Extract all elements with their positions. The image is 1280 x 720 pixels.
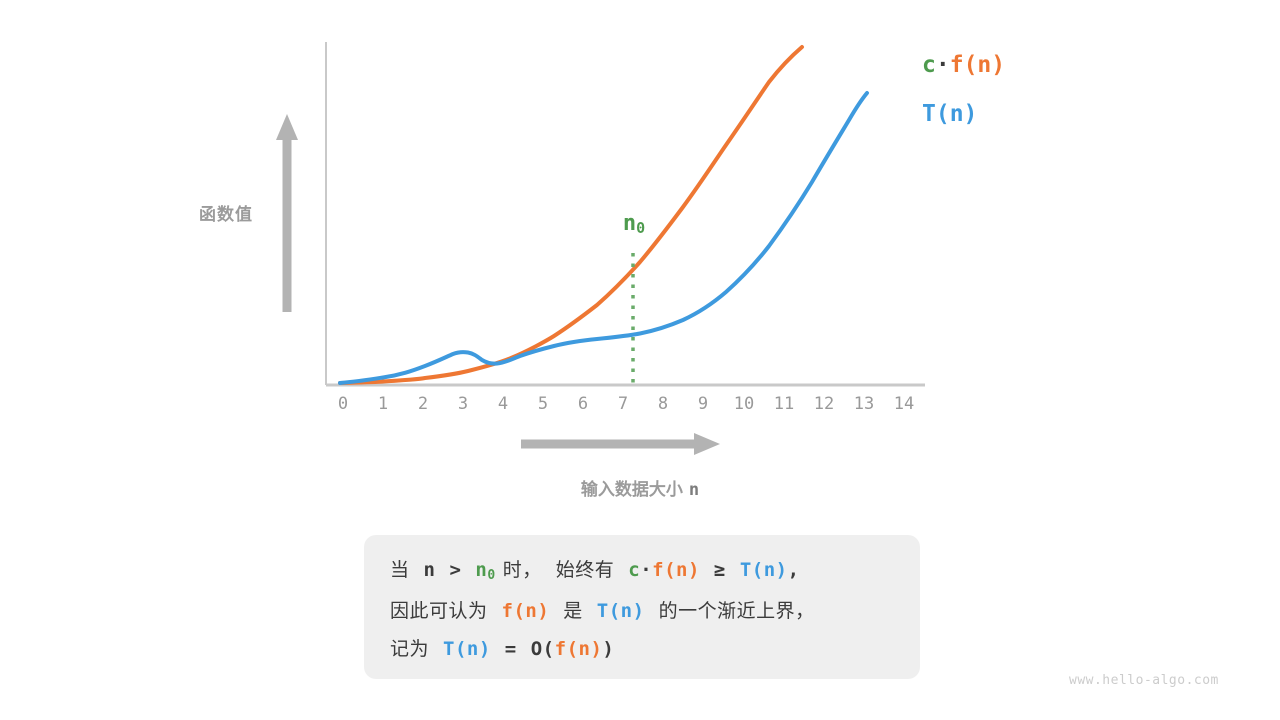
legend-multiply-dot: · xyxy=(936,52,950,78)
tick-label-4: 4 xyxy=(498,394,508,414)
tick-label-9: 9 xyxy=(698,394,708,414)
n0-base: n xyxy=(623,211,636,236)
watermark: www.hello-algo.com xyxy=(1069,673,1219,688)
expl1-dot: · xyxy=(640,559,652,581)
x-axis-tick-labels: 0 1 2 3 4 5 6 7 8 9 10 11 12 13 14 xyxy=(0,394,1280,420)
tick-label-0: 0 xyxy=(338,394,348,414)
tick-label-11: 11 xyxy=(774,394,794,414)
expl2-tn: T(n) xyxy=(597,600,645,622)
legend-item-t-n: T(n) xyxy=(922,101,977,127)
legend-coefficient-c: c xyxy=(922,52,936,78)
expl1-n0-sub: 0 xyxy=(487,568,495,583)
expl1-n: n xyxy=(424,559,436,581)
legend-function-f-n: f(n) xyxy=(950,52,1005,78)
expl2-fn: f(n) xyxy=(502,600,550,622)
expl2-upper-bound: 的一个渐近上界， xyxy=(659,600,815,622)
explanation-box: 当n>n0时，始终有c·f(n)≥T(n), 因此可认为f(n)是T(n)的一个… xyxy=(364,535,920,679)
expl3-fn: f(n) xyxy=(555,638,603,660)
legend-function-t-n: T(n) xyxy=(922,101,977,127)
expl3-big-o-open: O( xyxy=(531,638,555,660)
tick-label-5: 5 xyxy=(538,394,548,414)
expl3-big-o-close: ) xyxy=(602,638,614,660)
expl1-n0: n0 xyxy=(475,559,495,581)
tick-label-3: 3 xyxy=(458,394,468,414)
expl1-when: 当 xyxy=(390,559,410,581)
tick-label-2: 2 xyxy=(418,394,428,414)
x-axis-label-text: 输入数据大小 xyxy=(581,480,683,500)
legend-item-c-f-n: c·f(n) xyxy=(922,52,1005,78)
expl1-geq: ≥ xyxy=(714,559,726,581)
expl1-fn: f(n) xyxy=(652,559,700,581)
expl1-always-have: 始终有 xyxy=(556,559,615,581)
tick-label-1: 1 xyxy=(378,394,388,414)
n0-subscript: 0 xyxy=(636,219,645,237)
tick-label-13: 13 xyxy=(854,394,874,414)
tick-label-8: 8 xyxy=(658,394,668,414)
asymptotic-upper-bound-figure: 函数值 输入数据大小n 0 1 2 3 4 5 6 7 8 9 10 11 12… xyxy=(0,0,1280,720)
y-axis-label: 函数值 xyxy=(178,200,274,225)
expl3-equals: = xyxy=(505,638,517,660)
x-axis-label: 输入数据大小n xyxy=(460,475,820,500)
curve-c-f-n xyxy=(340,47,802,383)
tick-label-10: 10 xyxy=(734,394,754,414)
explanation-line-3: 记为T(n)=O(f(n)) xyxy=(390,630,920,668)
n0-marker-label: n0 xyxy=(604,211,664,236)
tick-label-12: 12 xyxy=(814,394,834,414)
expl1-then: 时， xyxy=(503,559,542,581)
expl1-comma: , xyxy=(788,559,800,581)
tick-label-14: 14 xyxy=(894,394,914,414)
x-direction-arrow xyxy=(521,433,720,455)
tick-label-7: 7 xyxy=(618,394,628,414)
expl1-tn: T(n) xyxy=(740,559,788,581)
tick-label-6: 6 xyxy=(578,394,588,414)
expl2-is: 是 xyxy=(563,600,583,622)
expl3-tn: T(n) xyxy=(443,638,491,660)
y-direction-arrow xyxy=(276,114,298,312)
expl1-greater-than: > xyxy=(449,559,461,581)
expl1-n0-base: n xyxy=(475,559,487,581)
x-axis-label-variable: n xyxy=(689,480,699,500)
explanation-line-1: 当n>n0时，始终有c·f(n)≥T(n), xyxy=(390,551,920,592)
explanation-line-2: 因此可认为f(n)是T(n)的一个渐近上界， xyxy=(390,592,920,630)
expl1-c: c xyxy=(628,559,640,581)
expl3-denoted-as: 记为 xyxy=(390,638,429,660)
curve-t-n xyxy=(340,93,867,383)
expl2-therefore: 因此可认为 xyxy=(390,600,488,622)
